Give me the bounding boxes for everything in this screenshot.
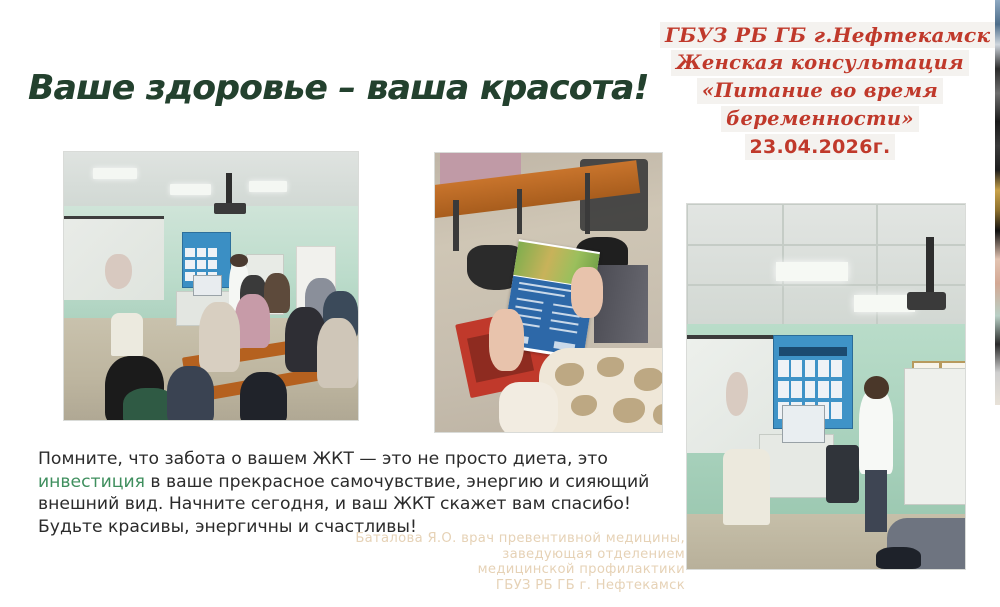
cabinet (904, 368, 966, 505)
doctor-head (864, 376, 889, 400)
body-text-highlight: инвестиция (38, 472, 145, 492)
hand-left (489, 309, 523, 370)
monitor (782, 405, 826, 444)
doctor-legs (865, 470, 887, 532)
white-chair (723, 449, 770, 526)
sweater (539, 348, 663, 433)
signature-line-4: ГБУЗ РБ ГБ г. Нефтекамск (340, 578, 685, 594)
desk (759, 434, 833, 498)
stomach-diagram (105, 254, 131, 289)
photo-doctor-office-content (687, 204, 965, 569)
foreground-shoe (876, 547, 920, 569)
bench-leg (517, 189, 523, 234)
ceiling-light (249, 181, 287, 192)
body-text-part1: Помните, что забота о вашем ЖКТ — это не… (38, 449, 608, 469)
body-paragraph: Помните, что забота о вашем ЖКТ — это не… (38, 448, 658, 538)
attendee (240, 372, 287, 421)
projector (214, 203, 246, 214)
doctor-head (230, 254, 248, 267)
signature-line-2: заведующая отделением (340, 547, 685, 563)
projector-mount (226, 173, 232, 205)
photo-brochure-reader (434, 152, 663, 433)
hand-right (571, 267, 603, 317)
photo-lecture-hall-content (64, 152, 358, 420)
org-header-line-2: Женская консультация (671, 50, 969, 76)
signature-block: Баталова Я.О. врач превентивной медицины… (340, 531, 685, 593)
bench-leg (585, 173, 591, 234)
org-header-date: 23.04.2026г. (745, 134, 896, 160)
bench-leg (453, 200, 459, 250)
photo-doctor-office (686, 203, 966, 570)
projector (907, 292, 946, 310)
signature-line-1: Баталова Я.О. врач превентивной медицины… (340, 531, 685, 547)
projector-mount (926, 237, 934, 295)
doctor-figure (859, 390, 892, 474)
photo-edge-sliver (995, 0, 1000, 405)
presentation-slide: Ваше здоровье – ваша красота! ГБУЗ РБ ГБ… (0, 0, 1000, 607)
sleeve (499, 382, 558, 433)
attendee (317, 318, 358, 388)
attendee (199, 302, 240, 372)
information-board-title (779, 347, 848, 355)
office-chair (826, 445, 859, 503)
org-header-line-3: «Питание во время (697, 78, 943, 104)
organization-header: ГБУЗ РБ ГБ г.Нефтекамск Женская консульт… (660, 22, 980, 162)
white-chair (111, 313, 143, 356)
page-title: Ваше здоровье – ваша красота! (28, 68, 648, 108)
signature-line-3: медицинской профилактики (340, 562, 685, 578)
ceiling-light (93, 168, 137, 179)
ceiling-light (170, 184, 211, 195)
photo-brochure-reader-content (435, 153, 662, 432)
org-header-line-1: ГБУЗ РБ ГБ г.Нефтекамск (660, 22, 995, 48)
ceiling-light (854, 295, 915, 311)
monitor (193, 275, 221, 296)
ceiling-light (776, 262, 848, 280)
attendee (167, 366, 214, 421)
photo-lecture-hall (63, 151, 359, 421)
org-header-line-4: беременности» (721, 106, 919, 132)
